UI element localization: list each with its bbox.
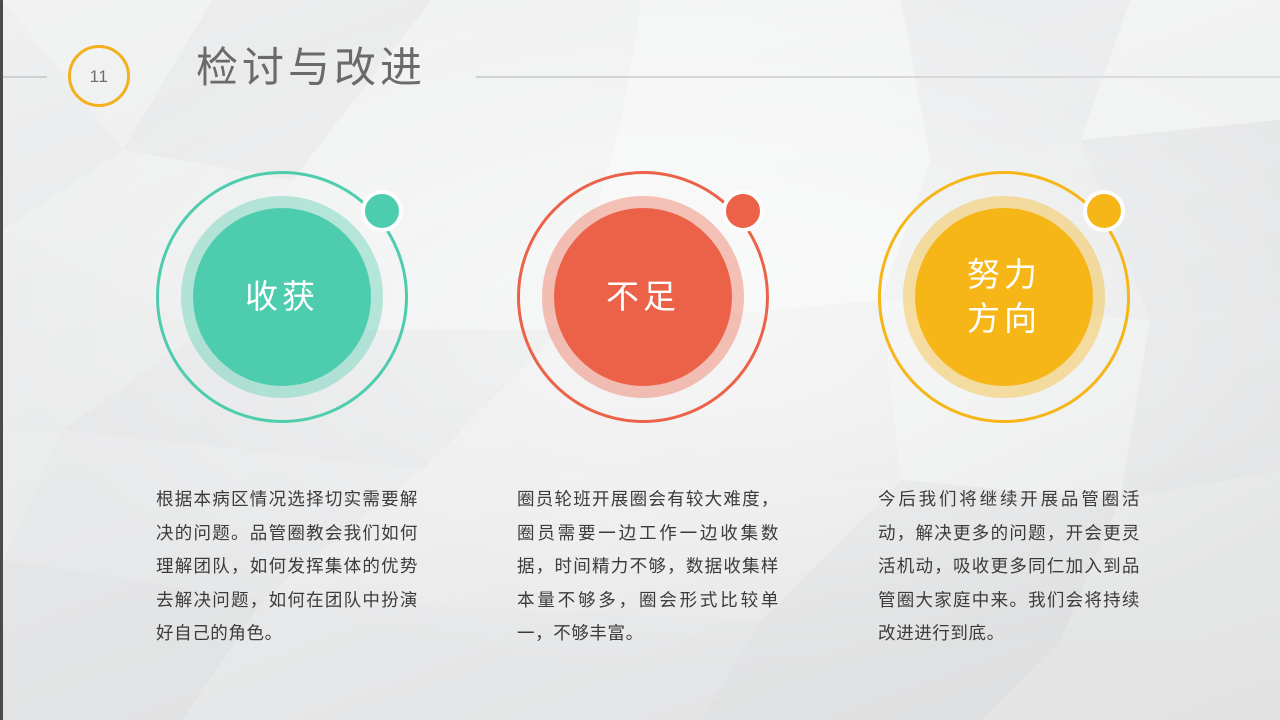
inner-disc: 收获	[193, 208, 371, 386]
inner-disc: 不足	[554, 208, 732, 386]
circle-label: 不足	[606, 275, 680, 319]
orbit-dot-icon	[722, 190, 764, 232]
orbit-dot-icon	[1083, 190, 1125, 232]
body-text-shortcoming: 圈员轮班开展圈会有较大难度，圈员需要一边工作一边收集数据，时间精力不够，数据收集…	[517, 483, 779, 651]
circle-group-shortcoming[interactable]: 不足	[517, 171, 769, 423]
orbit-dot-icon	[361, 190, 403, 232]
slide-canvas: 11 检讨与改进 收获 不足 努力 方向 根据本病区情况选择切实需要解决的问题。…	[0, 0, 1280, 720]
page-number-label: 11	[90, 68, 109, 85]
page-title: 检讨与改进	[196, 44, 426, 92]
slide-header: 11 检讨与改进	[3, 0, 1280, 150]
circle-label: 努力 方向	[967, 253, 1041, 340]
page-number-badge: 11	[68, 45, 130, 107]
circle-label: 收获	[245, 275, 319, 319]
circle-group-harvest[interactable]: 收获	[156, 171, 408, 423]
title-rule-left	[3, 76, 47, 78]
inner-disc: 努力 方向	[915, 208, 1093, 386]
title-divider	[476, 76, 1280, 78]
body-text-harvest: 根据本病区情况选择切实需要解决的问题。品管圈教会我们如何理解团队，如何发挥集体的…	[156, 483, 418, 651]
circle-group-direction[interactable]: 努力 方向	[878, 171, 1130, 423]
body-text-direction: 今后我们将继续开展品管圈活动，解决更多的问题，开会更灵活机动，吸收更多同仁加入到…	[878, 483, 1140, 651]
